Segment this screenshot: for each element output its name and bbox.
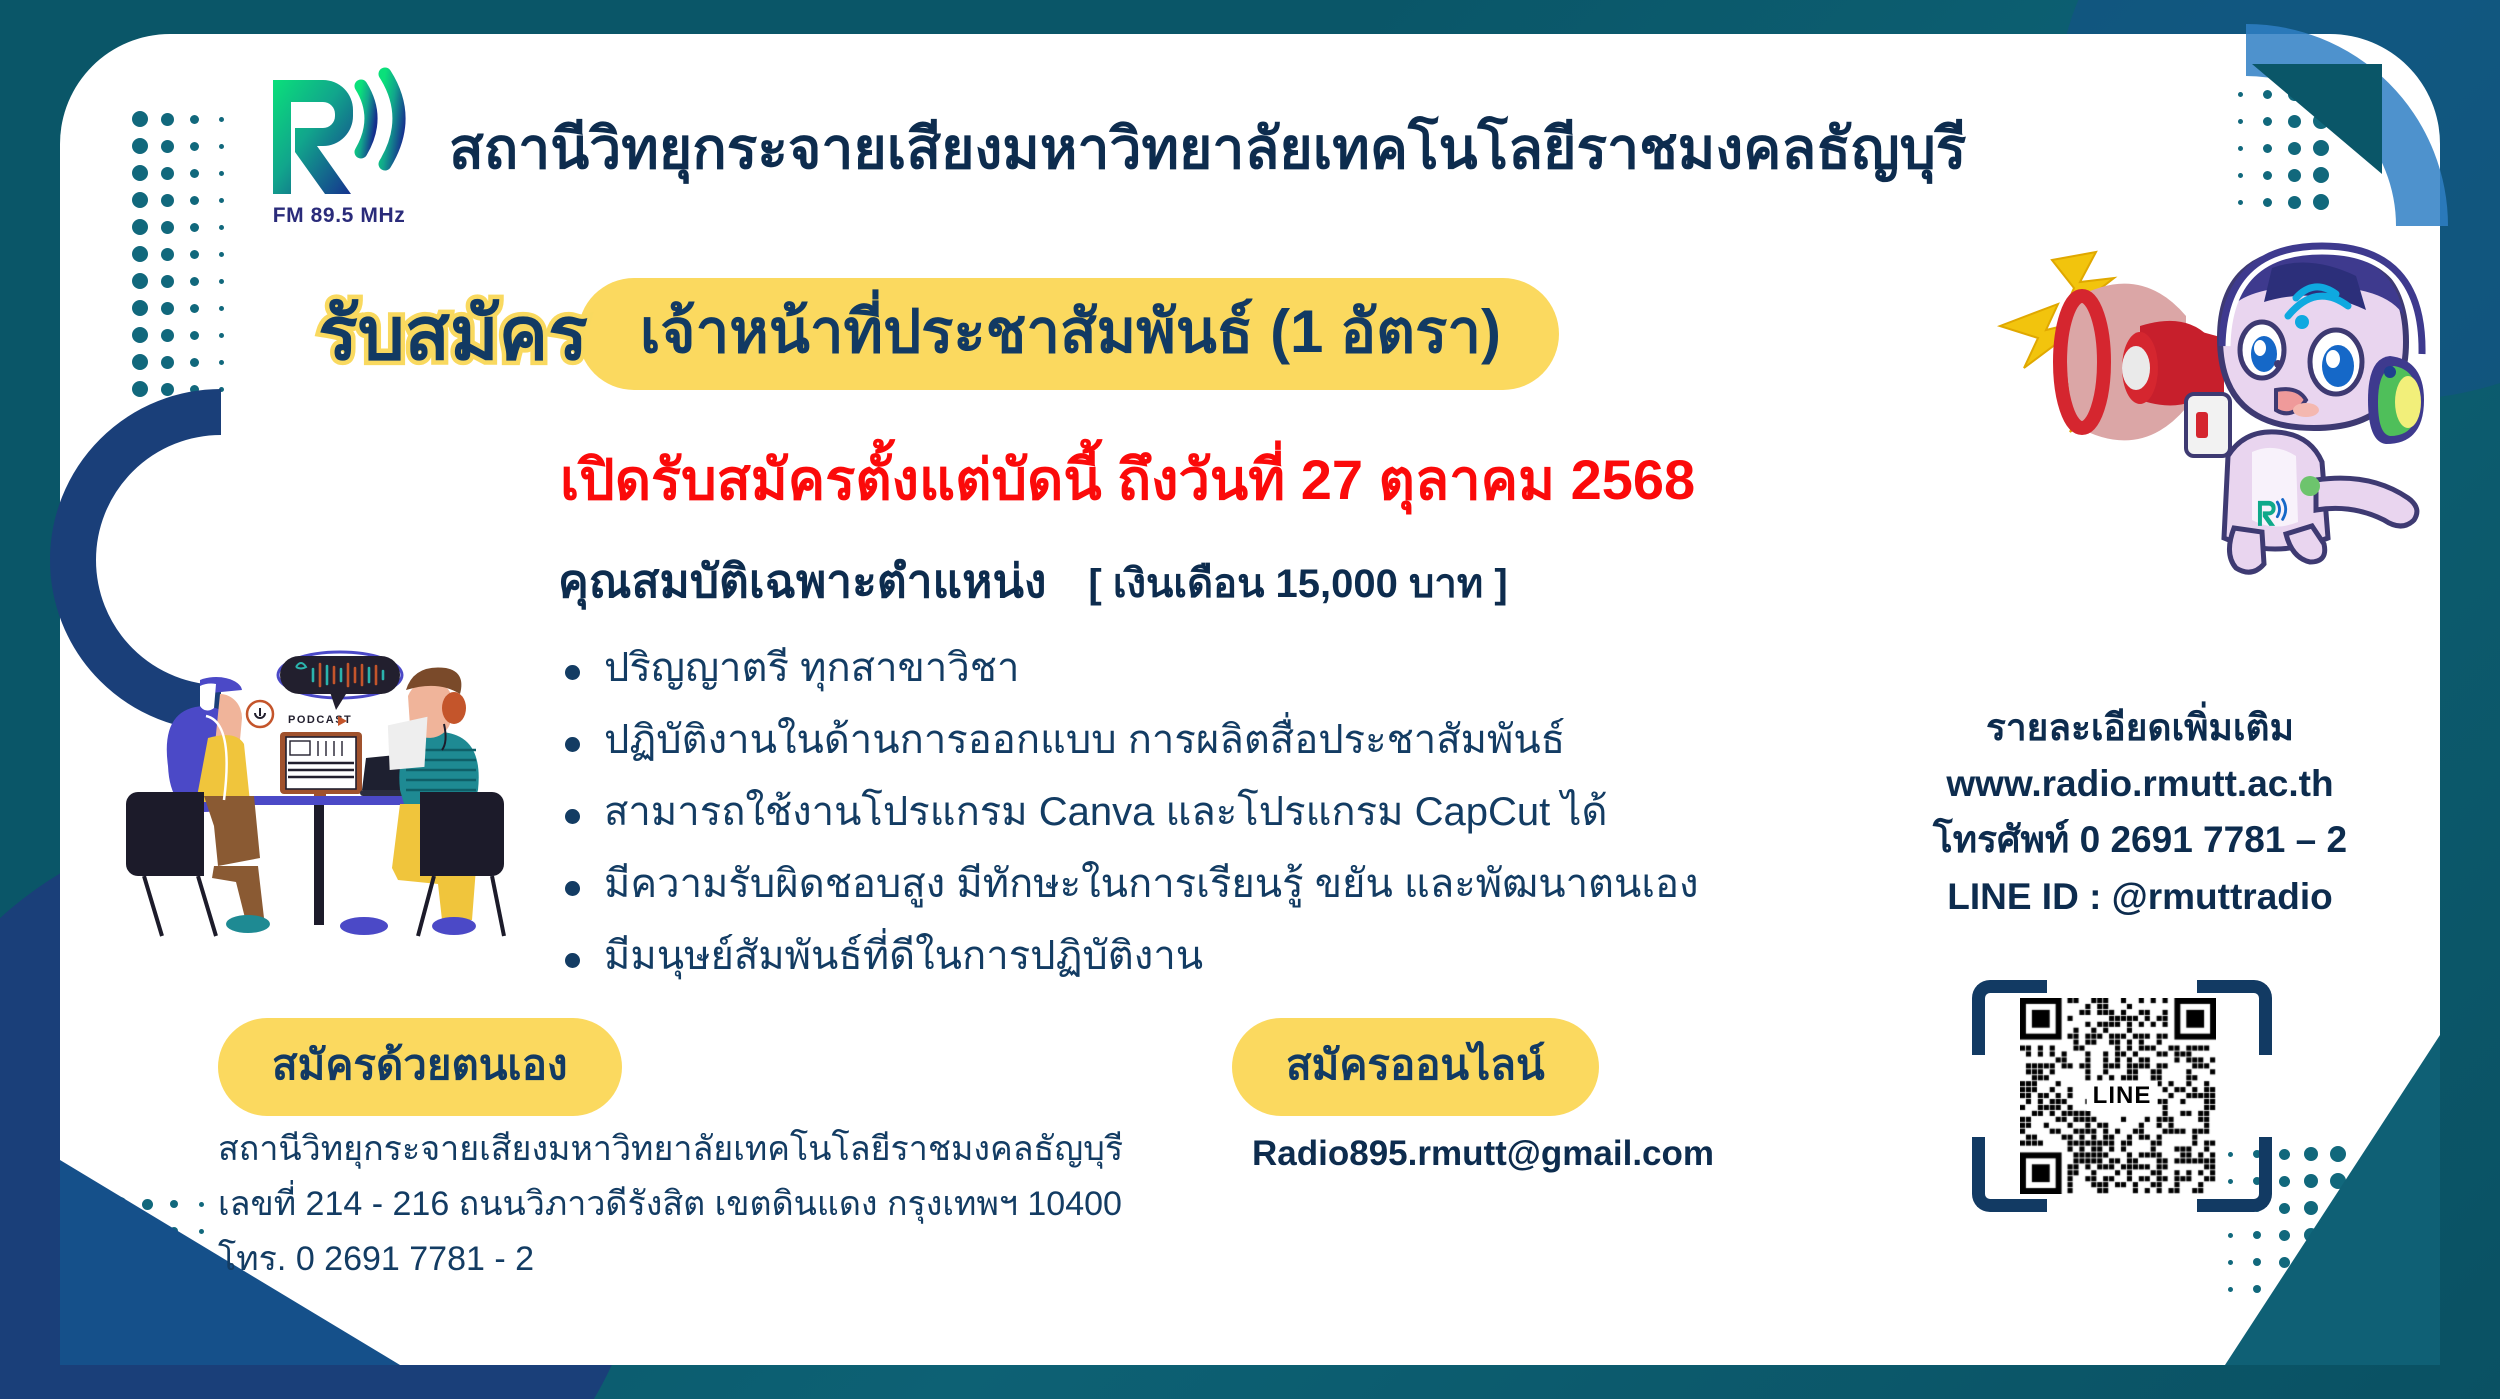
bullet-dot-icon xyxy=(565,953,580,968)
bullet-dot-icon xyxy=(565,737,580,752)
address-line-2: เลขที่ 214 - 216 ถนนวิภาวดีรังสิต เขตดิน… xyxy=(218,1177,1123,1232)
recruit-position-pill: เจ้าหน้าที่ประชาสัมพันธ์ (1 อัตรา) xyxy=(578,278,1559,390)
salary-note: [ เงินเดือน 15,000 บาท ] xyxy=(1088,564,1507,604)
address-line-3: โทร. 0 2691 7781 - 2 xyxy=(218,1232,1123,1287)
qualification-item: สามารถใช้งานโปรแกรม Canva และโปรแกรม Cap… xyxy=(565,792,1699,832)
apply-online-pill: สมัครออนไลน์ xyxy=(1232,1018,1599,1116)
robot-mascot-with-megaphone xyxy=(1990,150,2460,580)
qr-brand-label: LINE xyxy=(2087,1081,2158,1111)
qualification-item: มีมนุษย์สัมพันธ์ที่ดีในการปฏิบัติงาน xyxy=(565,936,1699,976)
address-line-1: สถานีวิทยุกระจายเสียงมหาวิทยาลัยเทคโนโลย… xyxy=(218,1122,1123,1177)
radio-wave-logo-icon xyxy=(255,58,423,196)
qualifications-list: ปริญญาตรี ทุกสาขาวิชาปฏิบัติงานในด้านการ… xyxy=(565,648,1699,1008)
bullet-dot-icon xyxy=(565,665,580,680)
recruit-word: รับสมัคร xyxy=(300,297,606,371)
podcast-studio-illustration: PODCAST xyxy=(108,620,528,960)
organization-title: สถานีวิทยุกระจายเสียงมหาวิทยาลัยเทคโนโลย… xyxy=(449,119,1966,181)
poster-header: FM 89.5 MHz สถานีวิทยุกระจายเสียงมหาวิทย… xyxy=(255,58,1966,228)
qualification-text: ปฏิบัติงานในด้านการออกแบบ การผลิตสื่อประ… xyxy=(604,720,1565,760)
contact-line-id: LINE ID : @rmuttradio xyxy=(1860,869,2420,925)
recruit-banner: รับสมัคร เจ้าหน้าที่ประชาสัมพันธ์ (1 อัต… xyxy=(300,278,1559,390)
qualification-item: มีความรับผิดชอบสูง มีทักษะในการเรียนรู้ … xyxy=(565,864,1699,904)
application-deadline: เปิดรับสมัครตั้งแต่บัดนี้ ถึงวันที่ 27 ต… xyxy=(560,452,1695,508)
poster-root: FM 89.5 MHz สถานีวิทยุกระจายเสียงมหาวิทย… xyxy=(0,0,2500,1399)
line-qr-code[interactable]: LINE xyxy=(1972,980,2272,1212)
contact-block: รายละเอียดเพิ่มเติม www.radio.rmutt.ac.t… xyxy=(1860,700,2420,925)
radio-logo: FM 89.5 MHz xyxy=(255,58,423,228)
qualifications-heading-row: คุณสมบัติเฉพาะตำแหน่ง [ เงินเดือน 15,000… xyxy=(558,558,1508,604)
walkin-address: สถานีวิทยุกระจายเสียงมหาวิทยาลัยเทคโนโลย… xyxy=(218,1122,1123,1287)
qualification-item: ปฏิบัติงานในด้านการออกแบบ การผลิตสื่อประ… xyxy=(565,720,1699,760)
apply-online-email[interactable]: Radio895.rmutt@gmail.com xyxy=(1252,1136,1714,1171)
contact-phone: โทรศัพท์ 0 2691 7781 – 2 xyxy=(1860,812,2420,868)
qualification-item: ปริญญาตรี ทุกสาขาวิชา xyxy=(565,648,1699,688)
apply-walkin-pill: สมัครด้วยตนเอง xyxy=(218,1018,622,1116)
contact-heading: รายละเอียดเพิ่มเติม xyxy=(1860,700,2420,756)
bullet-dot-icon xyxy=(565,809,580,824)
qualifications-heading: คุณสมบัติเฉพาะตำแหน่ง xyxy=(558,558,1046,604)
bullet-dot-icon xyxy=(565,881,580,896)
logo-frequency-label: FM 89.5 MHz xyxy=(255,205,423,226)
qualification-text: มีมนุษย์สัมพันธ์ที่ดีในการปฏิบัติงาน xyxy=(604,936,1203,976)
contact-website[interactable]: www.radio.rmutt.ac.th xyxy=(1860,756,2420,812)
qualification-text: มีความรับผิดชอบสูง มีทักษะในการเรียนรู้ … xyxy=(604,864,1699,904)
qualification-text: สามารถใช้งานโปรแกรม Canva และโปรแกรม Cap… xyxy=(604,792,1607,832)
qualification-text: ปริญญาตรี ทุกสาขาวิชา xyxy=(604,648,1019,688)
